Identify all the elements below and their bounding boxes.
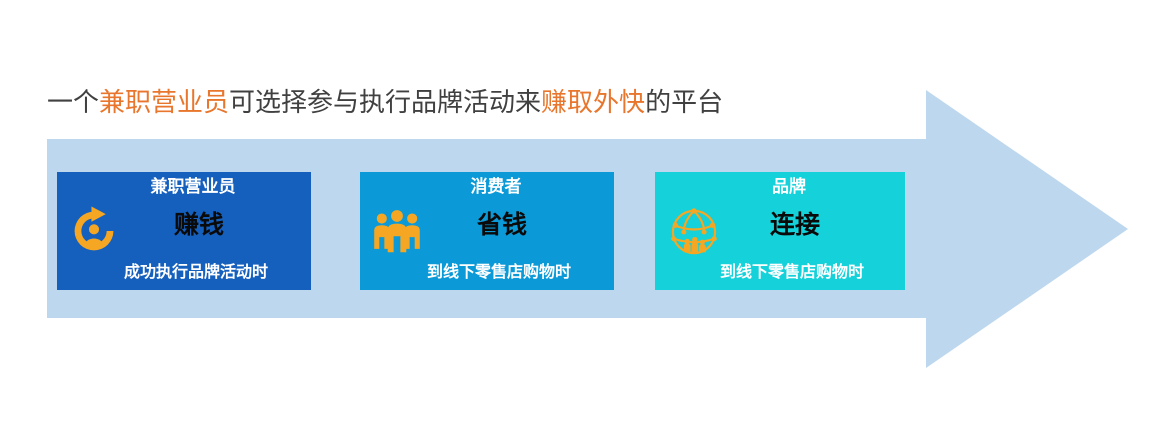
card-note-label: 成功执行品牌活动时 [57,262,311,284]
card-main-label: 赚钱 [57,210,311,242]
card-role-label: 品牌 [655,176,905,198]
card-part-time-clerk[interactable]: 兼职营业员 赚钱 成功执行品牌活动时 [57,172,311,290]
headline-segment-1: 一个 [47,88,99,117]
card-main-label: 省钱 [360,210,614,242]
card-note-label: 到线下零售店购物时 [360,262,614,284]
headline-segment-3: 可选择参与执行品牌活动来 [229,88,541,117]
card-main-label: 连接 [655,210,905,242]
card-role-label: 兼职营业员 [57,176,311,198]
card-brand[interactable]: 品牌 连接 到线下零售店购物时 [655,172,905,290]
card-note-label: 到线下零售店购物时 [655,262,905,284]
card-row: 兼职营业员 赚钱 成功执行品牌活动时 消费者 省钱 到线下零售店购物时 [57,172,917,290]
card-role-label: 消费者 [360,176,614,198]
headline-segment-2-accent: 兼职营业员 [99,88,229,117]
headline-segment-4-accent: 赚取外快 [541,88,645,117]
page-title: 一个兼职营业员可选择参与执行品牌活动来赚取外快的平台 [47,86,723,120]
card-consumer[interactable]: 消费者 省钱 到线下零售店购物时 [360,172,614,290]
headline-segment-5: 的平台 [645,88,723,117]
